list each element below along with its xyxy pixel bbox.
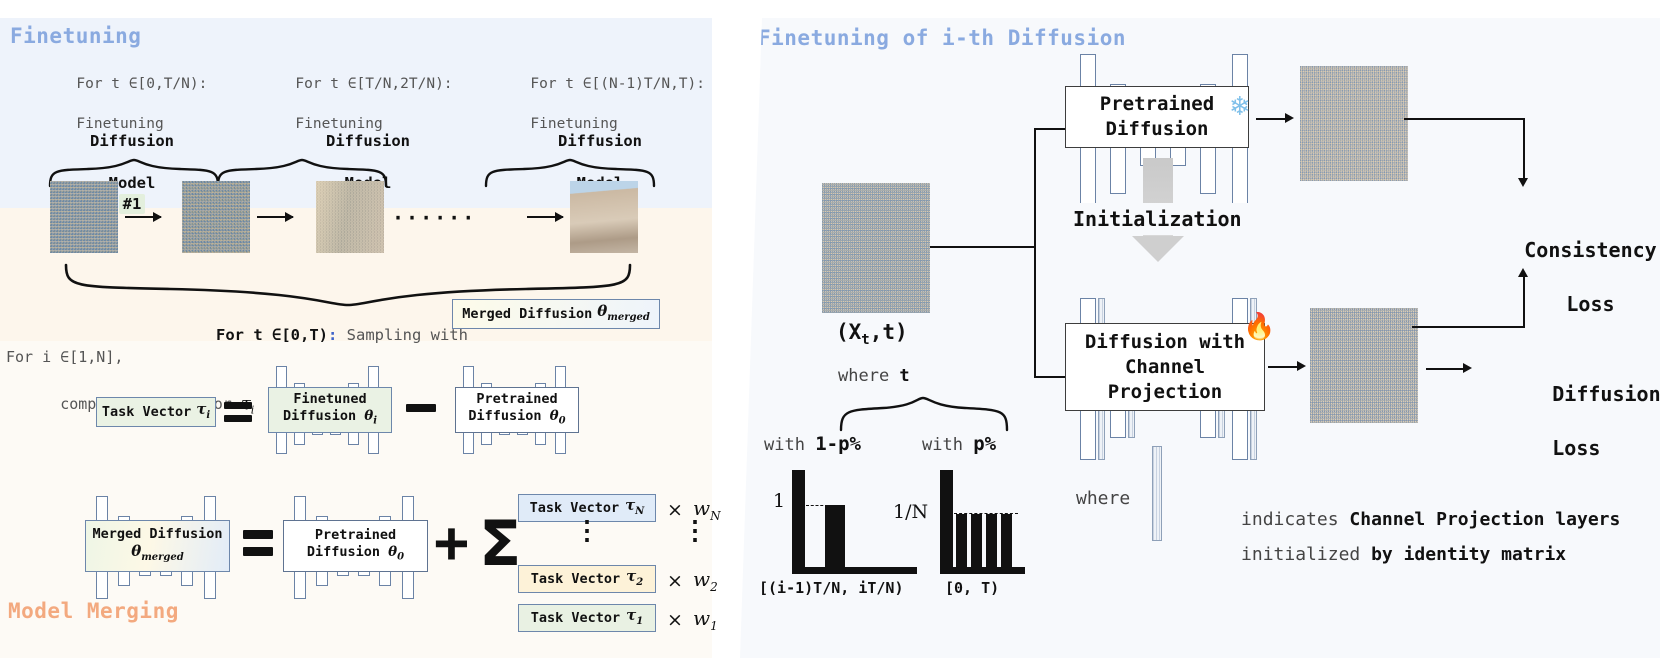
fire-icon: 🔥	[1243, 314, 1275, 340]
vertical-dots-terms: ⋮	[518, 527, 656, 536]
times-sign-2: ×	[667, 570, 683, 592]
task-vector-box-symbol: τi	[196, 401, 210, 424]
trainable-box-line2: Channel	[1125, 355, 1205, 380]
diffusion-loss-label: Diffusion Loss	[1480, 354, 1660, 489]
sample-thumbnail-2	[182, 181, 250, 253]
merged-diffusion-line1: Merged Diffusion	[92, 526, 222, 543]
arrow-pretrained-to-image	[1256, 118, 1288, 120]
task-vector-term-N-symbol: τN	[625, 497, 644, 520]
task-vector-term-1-label: Task Vector	[531, 610, 620, 627]
branch-left-label: with 1-p%	[764, 433, 861, 455]
pretrained-diffusion-box-1[interactable]: Pretrained Diffusion θ0	[455, 387, 579, 433]
arrow-trainable-to-image	[1268, 366, 1300, 368]
chart-left-xlabel: [(i-1)T/N, iT/N)	[759, 579, 904, 597]
merged-diffusion-line2: θmerged	[131, 543, 184, 566]
task-vector-term-2[interactable]: Task Vector τ2	[518, 565, 656, 593]
channel-projection-swatch	[1152, 446, 1162, 541]
task-vector-term-N-label: Task Vector	[530, 500, 619, 517]
vertical-dots-weights: ⋮	[675, 527, 715, 536]
pretrained-diffusion-2-line2: Diffusion θ0	[307, 544, 404, 566]
sampling-prefix: For t ∈[0,T)	[216, 326, 328, 344]
finetuned-diffusion-line1: Finetuned	[293, 391, 366, 408]
consistency-loss-line1: Consistency	[1524, 238, 1656, 262]
initialization-arrow-head	[1132, 236, 1184, 262]
trainable-output-image	[1310, 308, 1418, 423]
column-range-text-2: For t ∈[T/N,2T/N):	[295, 76, 452, 92]
equals-sign-merge	[243, 530, 273, 556]
consistency-loss-label: Consistency Loss	[1452, 210, 1657, 345]
trainable-box-line3: Projection	[1108, 380, 1222, 405]
initialization-label: Initialization	[1065, 203, 1250, 235]
chain-arrow-2	[257, 216, 293, 218]
pretrained-diffusion-box-2[interactable]: Pretrained Diffusion θ0	[283, 520, 428, 572]
consistency-bottom-line	[1412, 326, 1524, 328]
task-vector-box-label: Task Vector	[102, 404, 191, 421]
times-sign-1: ×	[667, 609, 683, 631]
times-sign-N: ×	[667, 499, 683, 521]
sample-thumbnail-4	[452, 181, 520, 253]
task-vector-term-1[interactable]: Task Vector τ1	[518, 604, 656, 632]
diffusion-loss-line2: Loss	[1552, 436, 1600, 460]
model-word-3: Diffusion	[558, 132, 642, 150]
finetuning-merging-panel: Finetuning Model Merging For t ∈[0,T/N):…	[0, 18, 712, 658]
input-label: (Xt,t)	[836, 320, 908, 348]
pretrained-box-line1: Pretrained	[1100, 92, 1214, 117]
consistency-up-line	[1523, 276, 1525, 328]
arrow-head-consistency-up	[1518, 268, 1528, 277]
pretrained-diffusion-line1: Pretrained	[476, 391, 557, 408]
legend-line2-plain: initialized	[1241, 544, 1371, 565]
arrow-head-trainable-out	[1297, 361, 1306, 371]
input-noisy-image	[822, 183, 930, 313]
arrow-head-consistency-down	[1518, 178, 1528, 187]
merged-diffusion-chip-label: Merged Diffusion	[462, 306, 592, 323]
finetuning-ith-diffusion-panel: Finetuning of i-th Diffusion (Xt,t) wher…	[740, 18, 1660, 658]
pretrained-diffusion-box-right[interactable]: Pretrained Diffusion	[1065, 86, 1249, 148]
legend-where-label: where	[1076, 488, 1130, 509]
merged-diffusion-box[interactable]: Merged Diffusion θmerged	[85, 520, 230, 572]
chart-left-ytick: 1	[773, 490, 785, 512]
task-vector-term-1-symbol: τ1	[626, 607, 643, 630]
chain-arrow-3	[527, 216, 563, 218]
plus-sign-merge: +	[434, 513, 469, 571]
pretrained-diffusion-2-line1: Pretrained	[315, 527, 396, 544]
model-badge-1: #1	[119, 194, 146, 214]
snowflake-icon: ❄	[1229, 94, 1251, 120]
brace-branch	[835, 396, 1015, 432]
consistency-loss-line2: Loss	[1566, 292, 1614, 316]
trainable-box-line1: Diffusion with	[1085, 330, 1245, 355]
input-split-line	[1034, 128, 1036, 378]
branch-right-label: with p%	[922, 433, 996, 455]
pretrained-diffusion-line2: Diffusion θ0	[468, 408, 565, 430]
task-vector-term-2-label: Task Vector	[531, 571, 620, 588]
sample-thumbnail-3	[316, 181, 384, 253]
legend-line2-bold: by identity matrix	[1371, 544, 1566, 565]
chart-right-xlabel: [0, T)	[945, 579, 999, 597]
merged-diffusion-chip-symbol: θmerged	[597, 303, 650, 326]
model-word-1: Diffusion	[90, 132, 174, 150]
trainable-diffusion-box[interactable]: Diffusion with Channel Projection	[1065, 323, 1265, 411]
pretrained-box-line2: Diffusion	[1106, 117, 1209, 142]
task-vector-term-2-symbol: τ2	[626, 568, 643, 591]
arrow-head-diffusion-loss	[1463, 363, 1472, 373]
merged-diffusion-chip[interactable]: Merged Diffusion θmerged	[452, 299, 660, 329]
model-word-2: Diffusion	[326, 132, 410, 150]
sample-thumbnail-1	[50, 181, 118, 253]
input-trunk-line	[930, 246, 1035, 248]
chain-arrow-1	[125, 216, 161, 218]
chart-right-ytick: 1/N	[893, 501, 928, 523]
legend-line-2: initialized by identity matrix	[1176, 523, 1566, 586]
sample-thumbnail-5	[570, 181, 638, 253]
consistency-down-line	[1523, 118, 1525, 180]
finetuned-diffusion-box[interactable]: Finetuned Diffusion θi	[268, 387, 392, 433]
section-title-right: Finetuning of i-th Diffusion	[758, 26, 1126, 50]
diffusion-loss-line1: Diffusion	[1552, 382, 1660, 406]
minus-sign-taskvector	[406, 404, 436, 412]
arrow-head-pretrained-out	[1285, 113, 1294, 123]
consistency-top-line	[1404, 118, 1524, 120]
weight-label-1: w1	[693, 606, 718, 633]
section-title-finetuning: Finetuning	[10, 24, 141, 48]
diffusion-loss-line	[1426, 368, 1466, 370]
equals-sign-taskvector	[224, 402, 252, 422]
task-vector-line1: For i ∈[1,N],	[6, 348, 123, 366]
column-range-text-1: For t ∈[0,T/N):	[76, 76, 207, 92]
where-t-label: where t	[838, 366, 910, 386]
sampling-colon: :	[328, 326, 337, 344]
sigma-sign-merge: Σ	[479, 513, 521, 575]
sampling-line: For t ∈[0,T): Sampling with	[160, 308, 477, 362]
task-vector-box[interactable]: Task Vector τi	[96, 397, 216, 427]
pretrained-output-image	[1300, 66, 1408, 181]
section-title-model-merging: Model Merging	[8, 599, 179, 623]
weight-label-2: w2	[693, 567, 718, 594]
column-range-text-3: For t ∈[(N-1)T/N,T):	[530, 76, 705, 92]
finetuned-diffusion-line2: Diffusion θi	[283, 408, 377, 430]
